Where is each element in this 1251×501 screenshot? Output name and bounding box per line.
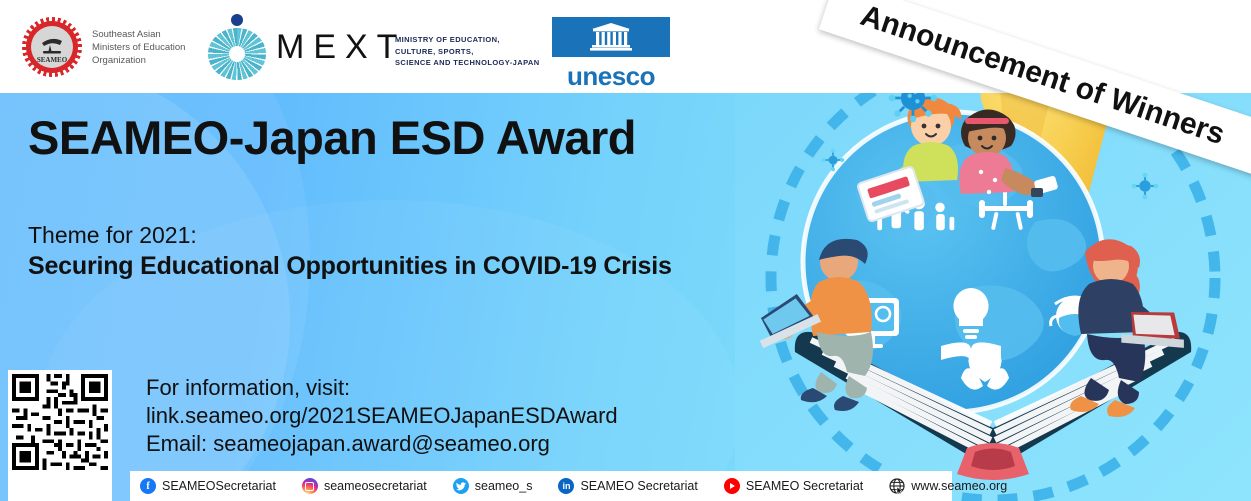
social-label-youtube: SEAMEO Secretariat (746, 479, 863, 493)
social-label-facebook: SEAMEOSecretariat (162, 479, 276, 493)
facebook-icon[interactable]: f (140, 478, 156, 494)
seameo-logo-block: SEAMEO Southeast Asian Ministers of Educ… (22, 17, 185, 77)
social-label-linkedin: SEAMEO Secretariat (580, 479, 697, 493)
social-footer-bar: f SEAMEOSecretariat seameosecretariat se… (130, 471, 952, 501)
twitter-icon[interactable] (453, 478, 469, 494)
social-item-twitter[interactable]: seameo_s (453, 478, 533, 494)
unesco-temple-logo-icon (552, 17, 670, 57)
social-label-twitter: seameo_s (475, 479, 533, 493)
instagram-icon[interactable] (302, 478, 318, 494)
social-item-linkedin[interactable]: in SEAMEO Secretariat (558, 478, 697, 494)
social-label-instagram: seameosecretariat (324, 479, 427, 493)
social-item-facebook[interactable]: f SEAMEOSecretariat (140, 478, 276, 494)
theme-label: Theme for 2021: (28, 222, 197, 249)
unesco-wordmark: unesco (552, 61, 670, 92)
youtube-icon[interactable] (724, 478, 740, 494)
info-line-visit: For information, visit: (146, 374, 618, 402)
social-label-website: www.seameo.org (911, 479, 1007, 493)
seameo-logo-text: Southeast Asian Ministers of Education O… (92, 28, 185, 67)
svg-text:SEAMEO: SEAMEO (37, 56, 68, 64)
social-item-instagram[interactable]: seameosecretariat (302, 478, 427, 494)
info-line-link[interactable]: link.seameo.org/2021SEAMEOJapanESDAward (146, 402, 618, 430)
mext-logo-block: MEXT (206, 14, 406, 80)
qr-code[interactable] (8, 370, 112, 501)
globe-icon[interactable] (889, 478, 905, 494)
unesco-logo-block: unesco (552, 17, 670, 92)
social-item-website[interactable]: www.seameo.org (889, 478, 1007, 494)
theme-text: Securing Educational Opportunities in CO… (28, 252, 672, 281)
mext-wordmark: MEXT (276, 28, 406, 67)
contact-info-block: For information, visit: link.seameo.org/… (146, 374, 618, 458)
mext-flower-logo-icon (206, 14, 268, 80)
mext-subtitle: MINISTRY OF EDUCATION, CULTURE, SPORTS, … (395, 34, 540, 69)
info-line-email[interactable]: Email: seameojapan.award@seameo.org (146, 430, 618, 458)
poster-canvas: SEAMEO Southeast Asian Ministers of Educ… (0, 0, 1251, 501)
page-title: SEAMEO-Japan ESD Award (28, 110, 636, 165)
seameo-gear-logo-icon: SEAMEO (22, 17, 82, 77)
social-item-youtube[interactable]: SEAMEO Secretariat (724, 478, 863, 494)
linkedin-icon[interactable]: in (558, 478, 574, 494)
